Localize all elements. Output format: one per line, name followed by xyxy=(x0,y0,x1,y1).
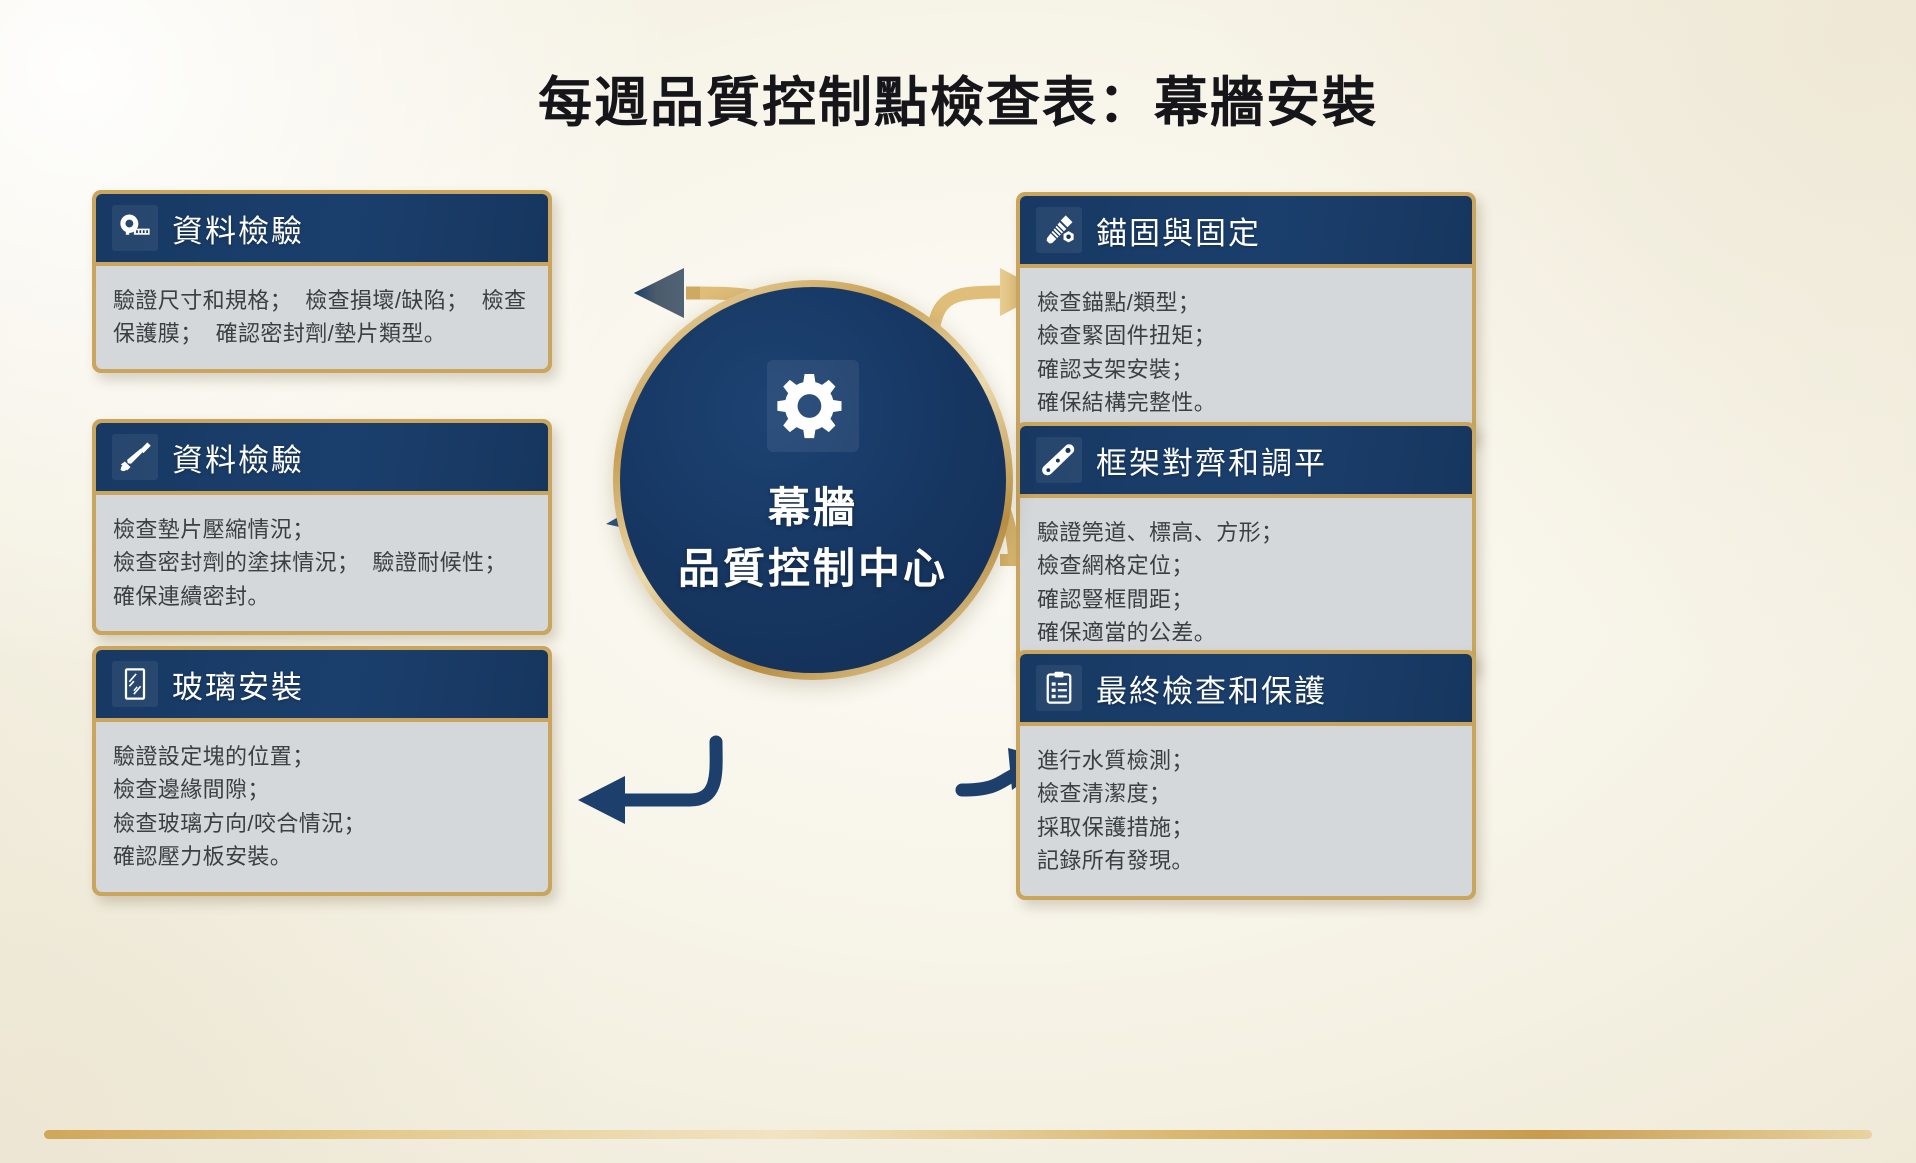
caulking-gun-icon xyxy=(112,434,158,480)
bottom-accent-bar xyxy=(44,1130,1872,1139)
hub-title-line1: 幕牆 xyxy=(768,478,858,539)
card-body-text: 檢查墊片壓縮情況； 檢查密封劑的塗抹情況； 驗證耐候性； 確保連續密封。 xyxy=(113,513,531,613)
card-final-inspection[interactable]: 最終檢查和保護 進行水質檢測； 檢查清潔度； 採取保護措施； 記錄所有發現。 xyxy=(1016,650,1476,900)
card-title: 最終檢查和保護 xyxy=(1096,666,1327,711)
card-body-text: 驗證尺寸和規格； 檢查損壞/缺陷； 檢查保護膜； 確認密封劑/墊片類型。 xyxy=(113,284,531,351)
hub-inner: 幕牆 品質控制中心 xyxy=(620,287,1006,673)
card-anchorage-fastening[interactable]: 錨固與固定 檢查錨點/類型； 檢查緊固件扭矩； 確認支架安裝； 確保結構完整性。 xyxy=(1016,192,1476,442)
card-body: 驗證筦道、標高、方形； 檢查網格定位； 確認豎框間距； 確保適當的公差。 xyxy=(1020,494,1472,668)
gear-icon xyxy=(767,360,859,452)
card-header: 資料檢驗 xyxy=(96,423,548,491)
card-body-text: 驗證設定塊的位置； 檢查邊緣間隙； 檢查玻璃方向/咬合情況； 確認壓力板安裝。 xyxy=(113,740,531,874)
glass-pane-icon xyxy=(112,661,158,707)
card-body: 檢查錨點/類型； 檢查緊固件扭矩； 確認支架安裝； 確保結構完整性。 xyxy=(1020,264,1472,438)
card-title: 錨固與固定 xyxy=(1096,208,1261,253)
card-header: 資料檢驗 xyxy=(96,194,548,262)
card-header: 最終檢查和保護 xyxy=(1020,654,1472,722)
card-title: 資料檢驗 xyxy=(172,435,304,480)
page-title: 每週品質控制點檢查表：幕牆安裝 xyxy=(0,58,1916,137)
card-material-inspection[interactable]: 資料檢驗 驗證尺寸和規格； 檢查損壞/缺陷； 檢查保護膜； 確認密封劑/墊片類型… xyxy=(92,190,552,373)
card-title: 玻璃安裝 xyxy=(172,662,304,707)
spirit-level-icon xyxy=(1036,437,1082,483)
card-header: 錨固與固定 xyxy=(1020,196,1472,264)
card-body-text: 進行水質檢測； 檢查清潔度； 採取保護措施； 記錄所有發現。 xyxy=(1037,744,1455,878)
card-title: 框架對齊和調平 xyxy=(1096,438,1327,483)
card-header: 玻璃安裝 xyxy=(96,650,548,718)
card-glazing-installation[interactable]: 玻璃安裝 驗證設定塊的位置； 檢查邊緣間隙； 檢查玻璃方向/咬合情況； 確認壓力… xyxy=(92,646,552,896)
card-body-text: 驗證筦道、標高、方形； 檢查網格定位； 確認豎框間距； 確保適當的公差。 xyxy=(1037,516,1455,650)
bolt-nut-icon xyxy=(1036,207,1082,253)
center-hub[interactable]: 幕牆 品質控制中心 xyxy=(613,280,1013,680)
card-body: 驗證尺寸和規格； 檢查損壞/缺陷； 檢查保護膜； 確認密封劑/墊片類型。 xyxy=(96,262,548,369)
hub-title-line2: 品質控制中心 xyxy=(678,539,948,600)
card-body: 進行水質檢測； 檢查清潔度； 採取保護措施； 記錄所有發現。 xyxy=(1020,722,1472,896)
clipboard-checklist-icon xyxy=(1036,665,1082,711)
card-body: 驗證設定塊的位置； 檢查邊緣間隙； 檢查玻璃方向/咬合情況； 確認壓力板安裝。 xyxy=(96,718,548,892)
connector-glazing xyxy=(578,742,716,824)
card-body: 檢查墊片壓縮情況； 檢查密封劑的塗抹情況； 驗證耐候性； 確保連續密封。 xyxy=(96,491,548,631)
tape-measure-icon xyxy=(112,205,158,251)
card-title: 資料檢驗 xyxy=(172,206,304,251)
card-frame-alignment[interactable]: 框架對齊和調平 驗證筦道、標高、方形； 檢查網格定位； 確認豎框間距； 確保適當… xyxy=(1016,422,1476,672)
infographic-canvas: 每週品質控制點檢查表：幕牆安裝 xyxy=(0,0,1916,1163)
card-sealant-inspection[interactable]: 資料檢驗 檢查墊片壓縮情況； 檢查密封劑的塗抹情況； 驗證耐候性； 確保連續密封… xyxy=(92,419,552,635)
card-body-text: 檢查錨點/類型； 檢查緊固件扭矩； 確認支架安裝； 確保結構完整性。 xyxy=(1037,286,1455,420)
card-header: 框架對齊和調平 xyxy=(1020,426,1472,494)
